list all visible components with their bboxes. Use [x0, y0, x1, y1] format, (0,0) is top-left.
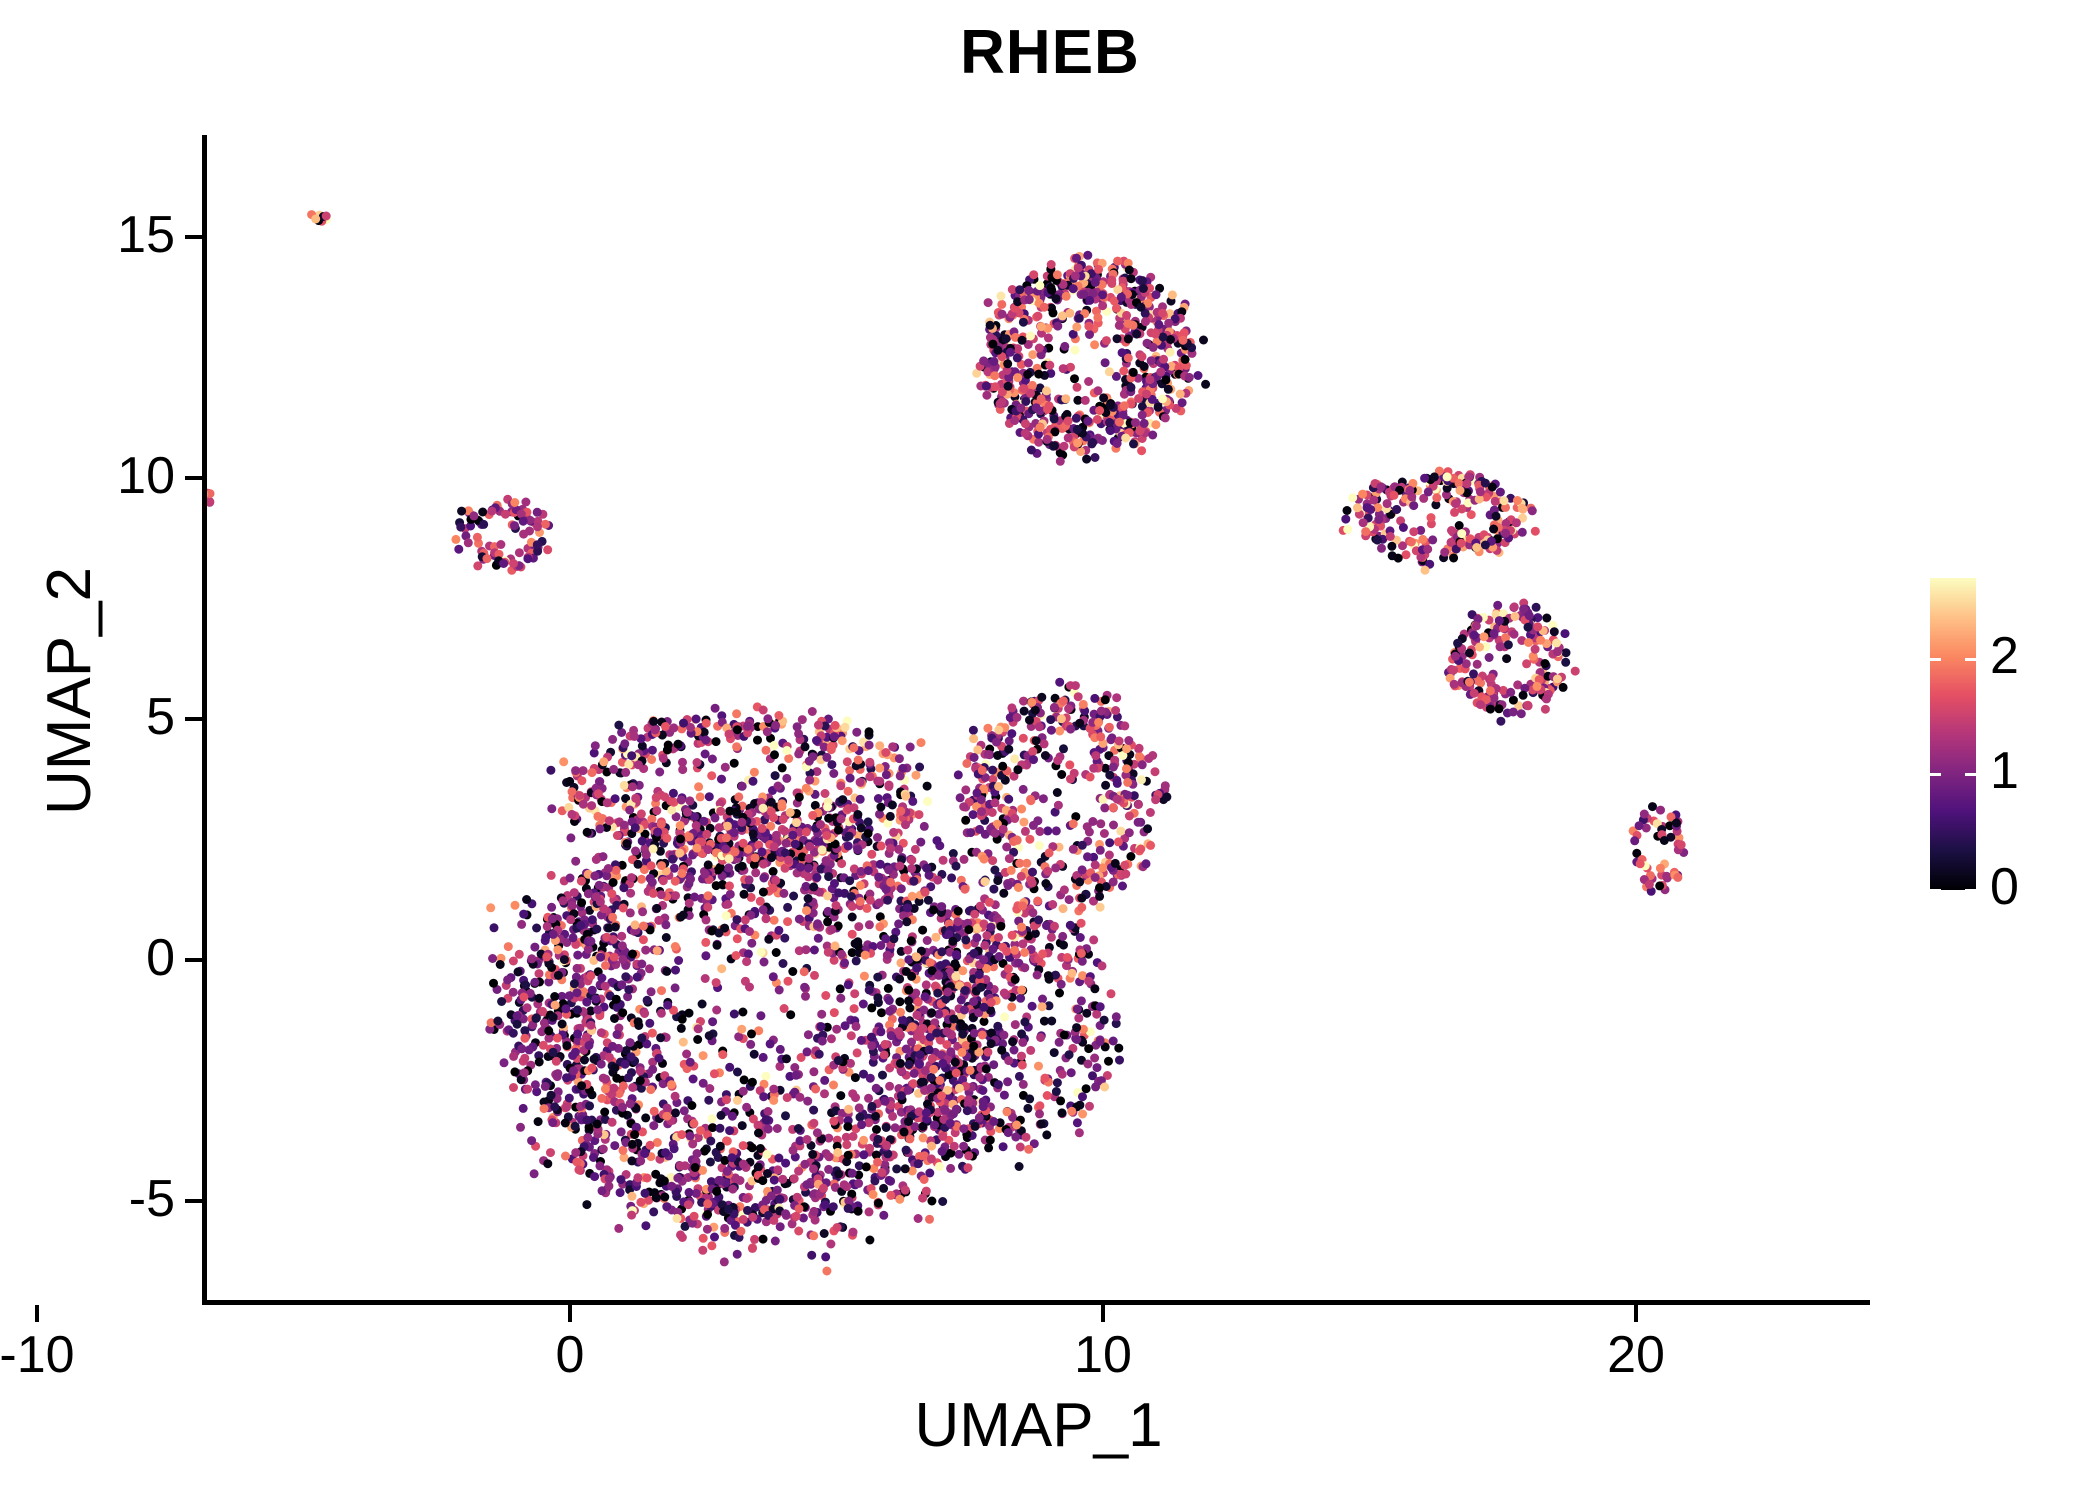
- x-tick-label: 20: [1536, 1327, 1736, 1384]
- colorbar-tick-label: 1: [1990, 743, 2100, 800]
- colorbar-tick-mark: [1930, 773, 1976, 776]
- x-tick-label: -10: [0, 1327, 137, 1384]
- y-tick-label: 0: [0, 930, 175, 987]
- x-tick-label: 0: [470, 1327, 670, 1384]
- x-tick-mark: [1634, 1305, 1638, 1322]
- y-tick-mark: [185, 235, 202, 239]
- colorbar-tick-label: 2: [1990, 628, 2100, 685]
- plot-panel: [207, 135, 1870, 1300]
- scatter-points: [207, 135, 1870, 1300]
- x-tick-mark: [35, 1305, 39, 1322]
- colorbar-tick-mark: [1930, 658, 1976, 661]
- colorbar-tick-mark: [1930, 889, 1976, 892]
- y-tick-mark: [185, 717, 202, 721]
- y-tick-mark: [185, 958, 202, 962]
- page-title: RHEB: [0, 22, 2100, 84]
- y-tick-label: 15: [0, 207, 175, 264]
- colorbar-tick-label: 0: [1990, 859, 2100, 916]
- colorbar-gradient: [1930, 578, 1976, 890]
- x-tick-label: 10: [1003, 1327, 1203, 1384]
- y-tick-label: 10: [0, 448, 175, 505]
- umap-feature-plot: RHEB UMAP_2 UMAP_1 -1001020 151050-5 210: [0, 0, 2100, 1500]
- x-tick-mark: [568, 1305, 572, 1322]
- y-tick-label: 5: [0, 689, 175, 746]
- x-axis-title: UMAP_1: [207, 1395, 1870, 1457]
- x-tick-mark: [1101, 1305, 1105, 1322]
- y-tick-label: -5: [0, 1171, 175, 1228]
- y-axis-line: [202, 135, 207, 1305]
- x-axis-line: [207, 1300, 1870, 1305]
- y-tick-mark: [185, 476, 202, 480]
- y-tick-mark: [185, 1199, 202, 1203]
